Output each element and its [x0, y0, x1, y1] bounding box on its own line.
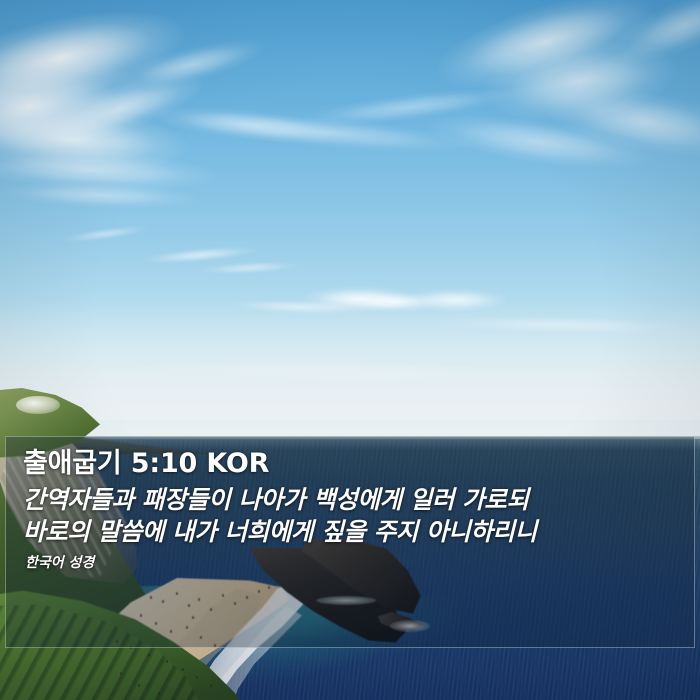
verse-image-canvas: 출애굽기 5:10 KOR 간역자들과 패장들이 나아가 백성에게 일러 가로되… [0, 0, 700, 700]
verse-line-1: 간역자들과 패장들이 나아가 백성에게 일러 가로되 [23, 484, 684, 517]
sky-background [0, 0, 700, 436]
verse-overlay-panel: 출애굽기 5:10 KOR 간역자들과 패장들이 나아가 백성에게 일러 가로되… [5, 436, 695, 648]
verse-body-text: 간역자들과 패장들이 나아가 백성에게 일러 가로되 바로의 말씀에 내가 너희… [23, 484, 684, 549]
cliff-white-highlight [16, 396, 60, 414]
verse-source-label: 한국어 성경 [25, 555, 684, 572]
verse-reference-title: 출애굽기 5:10 KOR [23, 449, 684, 480]
verse-line-2: 바로의 말씀에 내가 너희에게 짚을 주지 아니하리니 [23, 516, 684, 549]
